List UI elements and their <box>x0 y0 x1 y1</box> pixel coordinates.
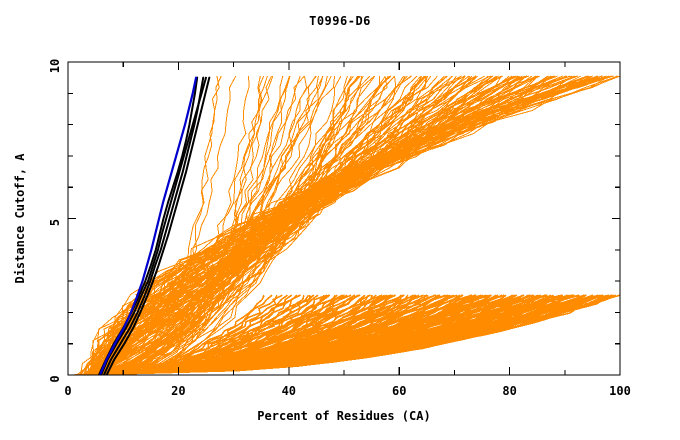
y-tick-label: 0 <box>48 375 62 382</box>
x-axis-label: Percent of Residues (CA) <box>257 409 430 423</box>
distance-cutoff-chart: 0204060801000510Percent of Residues (CA)… <box>0 0 680 440</box>
plot-root: T0996-D6 0204060801000510Percent of Resi… <box>0 0 680 440</box>
x-tick-label: 0 <box>64 384 71 398</box>
x-tick-label: 60 <box>392 384 406 398</box>
x-tick-label: 80 <box>502 384 516 398</box>
y-axis-label: Distance Cutoff, A <box>13 153 27 284</box>
y-tick-label: 10 <box>48 59 62 73</box>
x-tick-label: 40 <box>282 384 296 398</box>
x-tick-label: 20 <box>171 384 185 398</box>
x-tick-label: 100 <box>609 384 631 398</box>
y-tick-label: 5 <box>48 219 62 226</box>
